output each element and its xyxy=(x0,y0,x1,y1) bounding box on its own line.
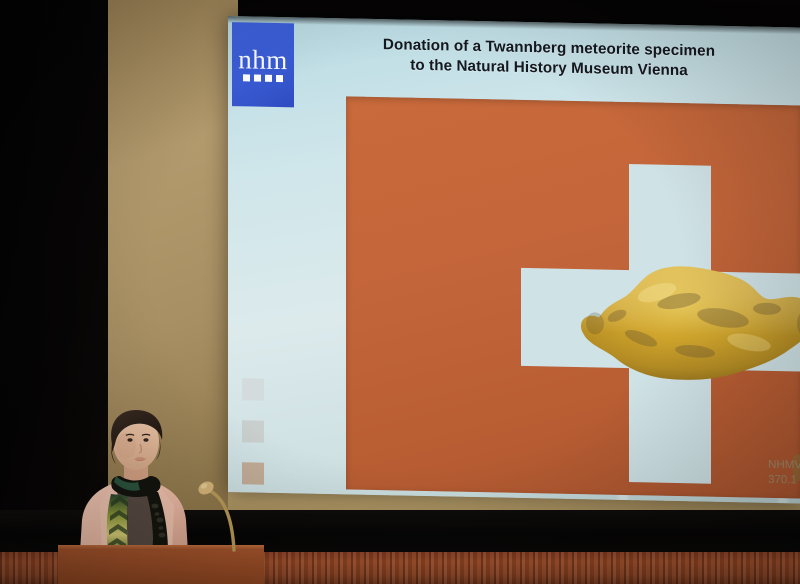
logo-square-1 xyxy=(243,74,250,81)
swiss-flag-photo: 1 CM xyxy=(346,96,800,498)
catalog-number-line-2: 370.1 xyxy=(768,473,800,489)
microphone xyxy=(196,480,242,552)
nhm-logo: nhm xyxy=(232,22,294,107)
catalog-number-line-1: NHMV xyxy=(768,458,800,474)
logo-square-3 xyxy=(265,75,272,82)
nhm-logo-wordmark: nhm xyxy=(238,47,288,72)
speaker xyxy=(62,402,212,552)
slide-swatch-1 xyxy=(242,378,264,400)
meteorite-specimen xyxy=(571,253,800,386)
slide-title: Donation of a Twannberg meteorite specim… xyxy=(308,34,790,84)
slide-swatch-2 xyxy=(242,420,264,442)
projection-screen: nhm Donation of a Twannberg meteorite sp… xyxy=(228,16,800,503)
screen-top-shadow xyxy=(228,16,800,34)
catalog-number: NHMV 370.1 xyxy=(768,458,800,490)
logo-square-4 xyxy=(276,75,283,82)
logo-square-2 xyxy=(254,75,261,82)
nhm-logo-squares xyxy=(243,74,283,82)
slide-swatch-3 xyxy=(242,462,264,484)
presentation-photo: nhm Donation of a Twannberg meteorite sp… xyxy=(0,0,800,584)
